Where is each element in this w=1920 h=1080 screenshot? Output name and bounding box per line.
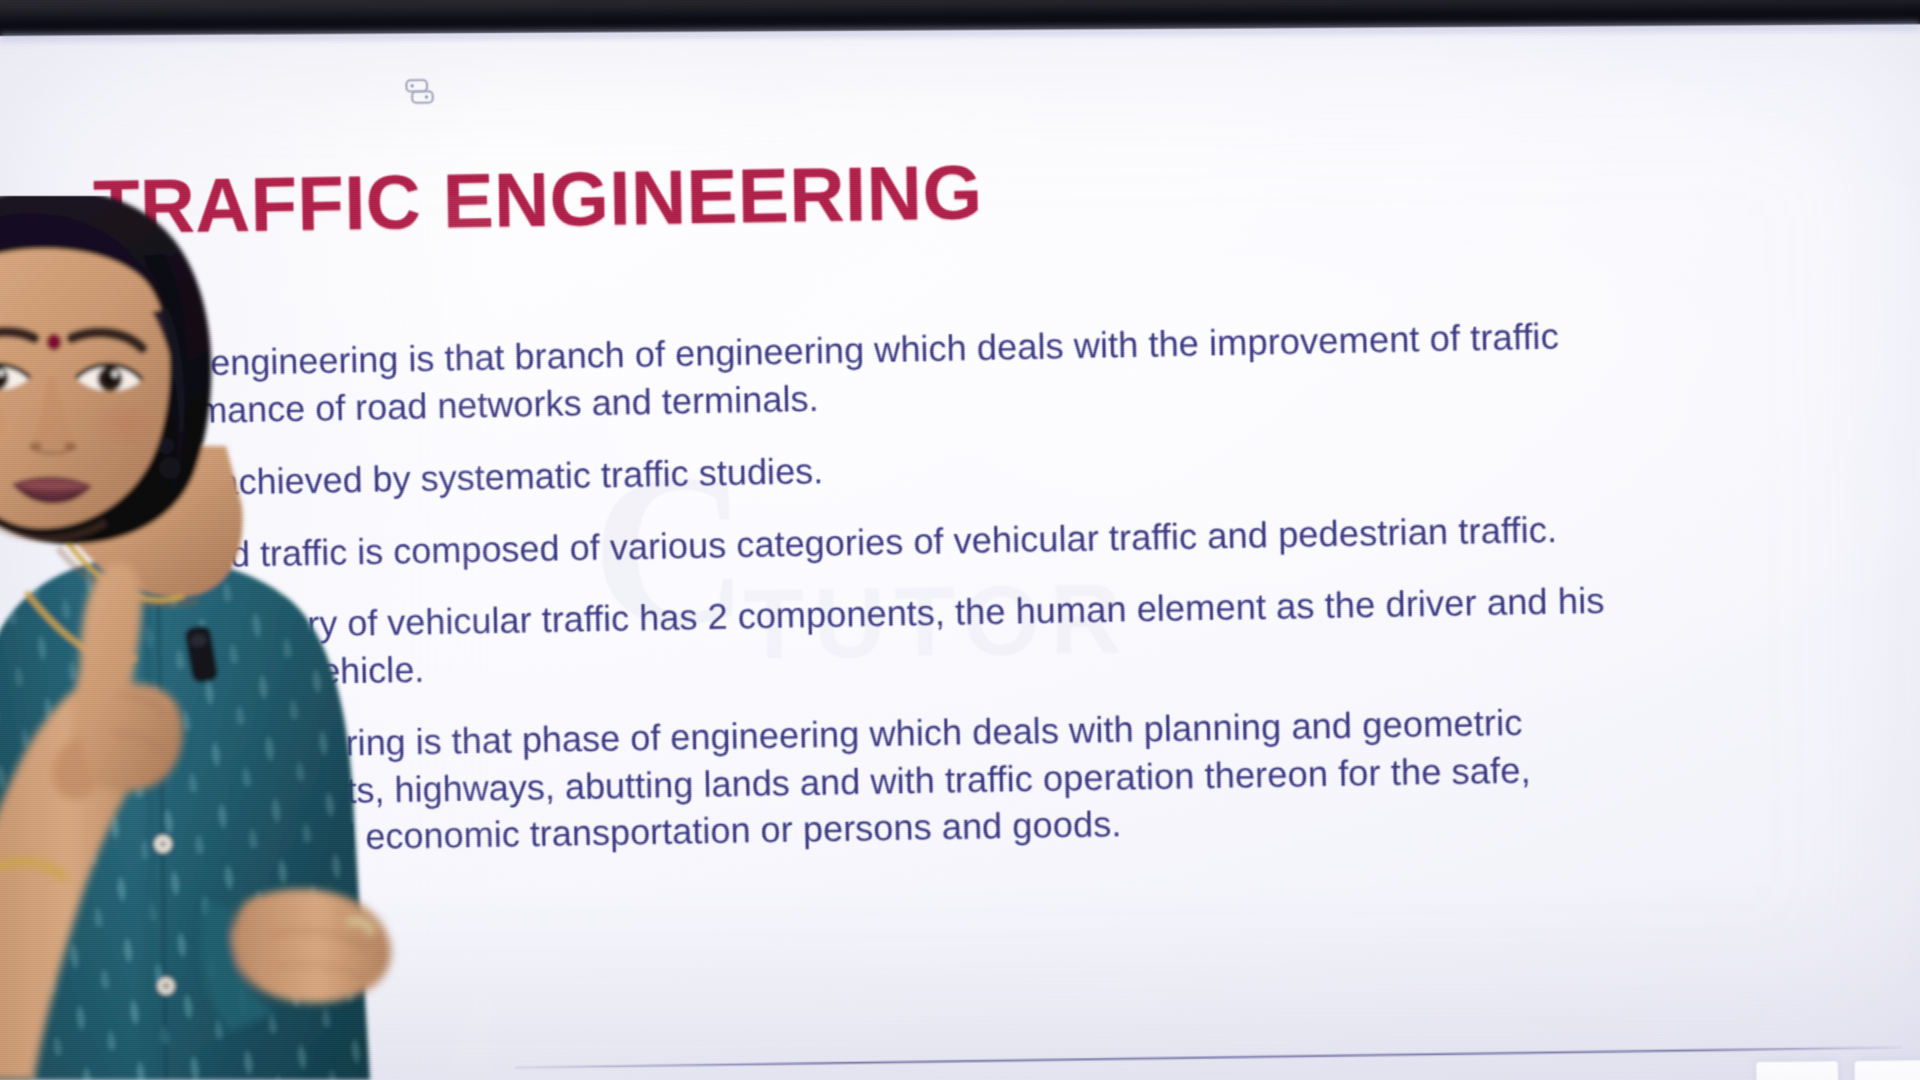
slide-title: TRAFFIC ENGINEERING (93, 148, 984, 251)
slide-paragraph: The road traffic is composed of various … (106, 499, 1910, 580)
projection-screen: C TUTOR TRAFFIC ENGINEERING Traffic engi… (0, 2, 1920, 1080)
video-frame: C TUTOR TRAFFIC ENGINEERING Traffic engi… (0, 0, 1920, 1080)
previous-slide-button[interactable] (1756, 1061, 1839, 1080)
footer-divider (515, 1046, 1902, 1068)
slide-line: This is achieved by systematic traffic s… (104, 427, 1908, 509)
slide-paragraph: Traffic engineering is that branch of en… (102, 306, 1907, 436)
slide-navigation (1756, 1060, 1920, 1080)
slide-paragraph: Each category of vehicular traffic has 2… (107, 572, 1912, 699)
slide-paragraph: Traffic engineering is that phase of eng… (109, 693, 1915, 865)
next-slide-button[interactable] (1855, 1060, 1920, 1080)
presentation-slide: C TUTOR TRAFFIC ENGINEERING Traffic engi… (0, 2, 1920, 1080)
slide-body: Traffic engineering is that branch of en… (102, 306, 1916, 890)
layers-icon (402, 74, 437, 110)
slide-paragraph: This is achieved by systematic traffic s… (104, 427, 1908, 509)
slide-line: The road traffic is composed of various … (106, 499, 1910, 580)
